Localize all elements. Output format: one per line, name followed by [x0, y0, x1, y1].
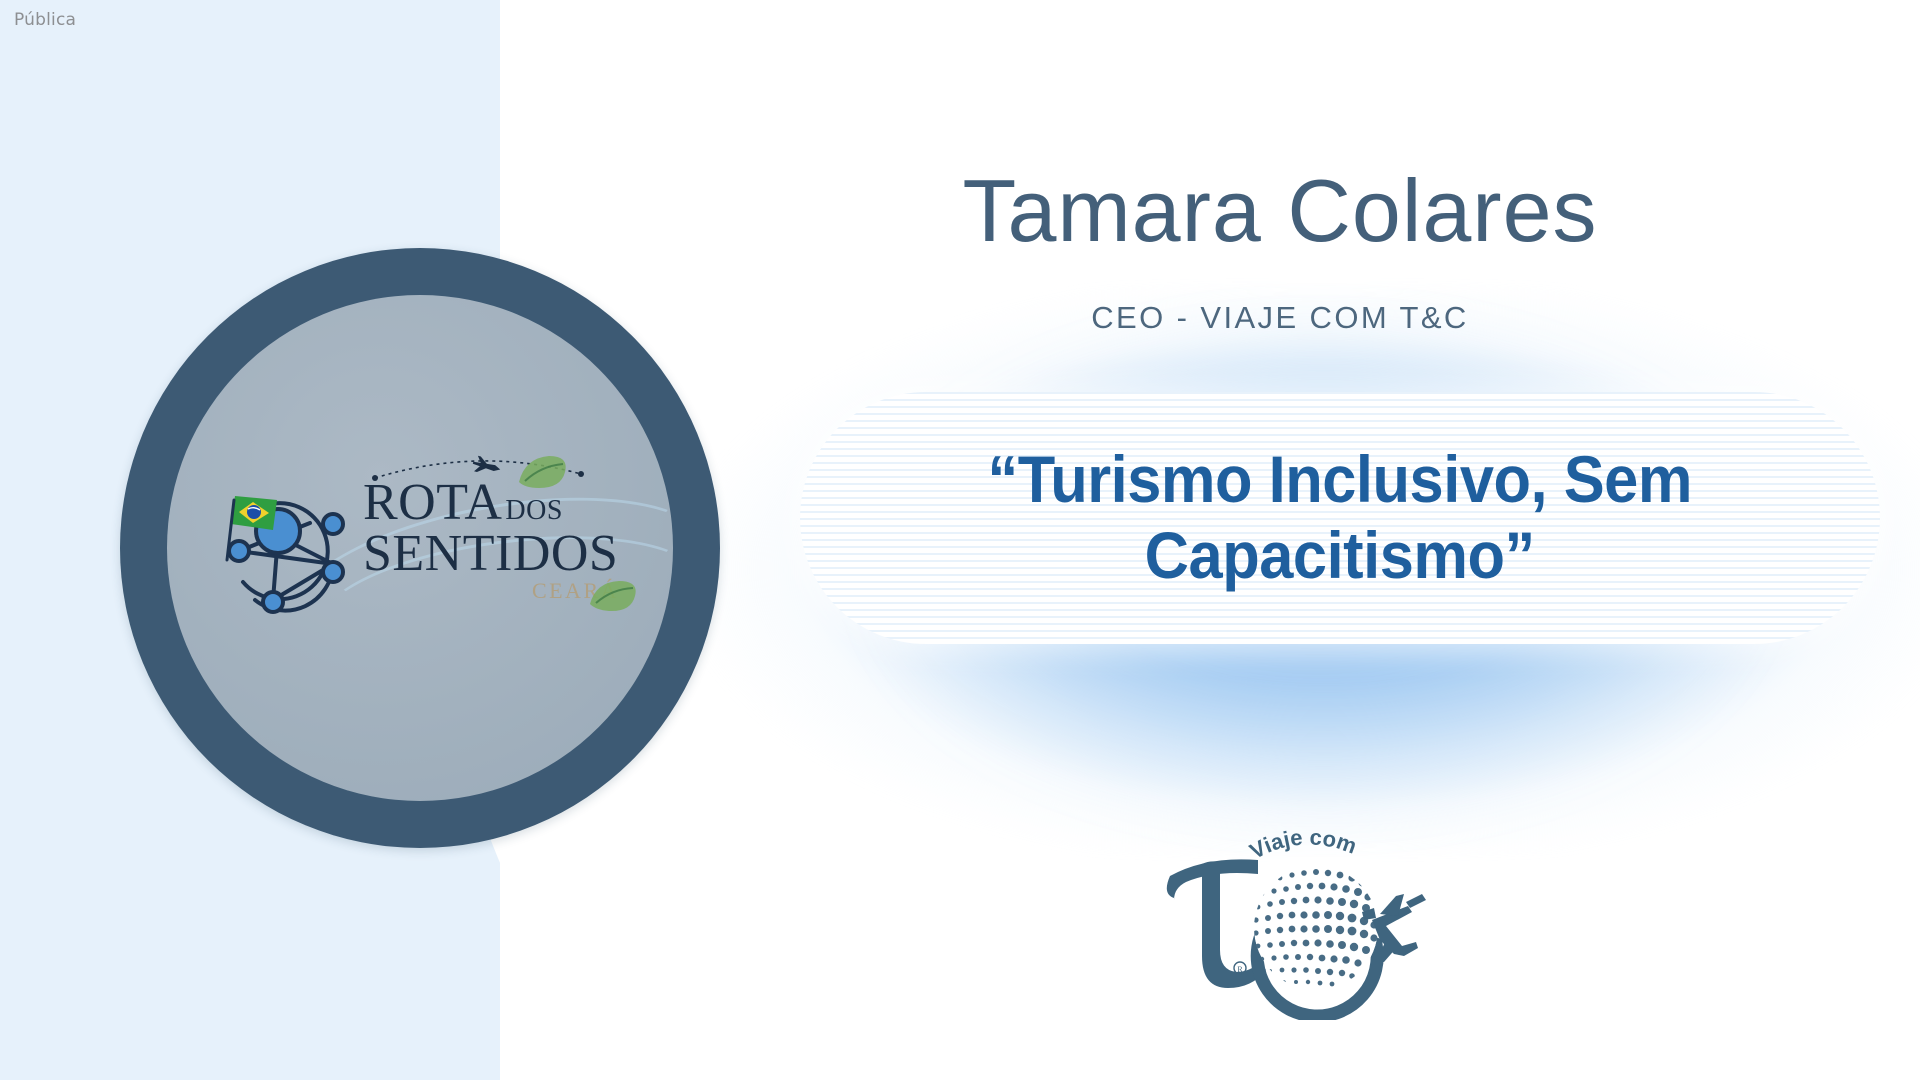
speaker-badge-fill: ROTADOS SENTIDOS CEARÁ	[167, 295, 673, 801]
svg-text:R: R	[1237, 965, 1243, 974]
leaf-icon	[515, 452, 571, 492]
logo-word-dos: DOS	[505, 495, 563, 526]
quote-line-2: Capacitismo”	[1145, 518, 1535, 592]
speaker-role: CEO - VIAJE COM T&C	[700, 300, 1860, 336]
registered-mark-icon: R	[1234, 962, 1246, 974]
network-nodes-icon	[215, 478, 365, 628]
classification-label: Pública	[14, 10, 76, 30]
monogram-t	[1167, 859, 1266, 988]
speaker-name: Tamara Colares	[700, 160, 1860, 262]
speaker-badge-ring: ROTADOS SENTIDOS CEARÁ	[120, 248, 720, 848]
company-tagline: Viaje com	[1246, 824, 1361, 864]
brazil-flag-icon	[231, 496, 277, 530]
leaf-icon	[587, 578, 641, 616]
quote-text: “Turismo Inclusivo, Sem Capacitismo”	[947, 442, 1733, 594]
quote-line-1: “Turismo Inclusivo, Sem	[988, 442, 1692, 516]
viaje-com-tc-logo: Viaje com	[1140, 820, 1460, 1020]
company-logo-graphic: Viaje com	[1140, 820, 1460, 1020]
slide-canvas: Pública	[0, 0, 1920, 1080]
quote-pill: “Turismo Inclusivo, Sem Capacitismo”	[800, 392, 1880, 644]
globe-dots-icon	[1253, 866, 1378, 990]
logo-word-sentidos: SENTIDOS	[363, 527, 633, 580]
rota-dos-sentidos-logo: ROTADOS SENTIDOS CEARÁ	[215, 470, 635, 650]
